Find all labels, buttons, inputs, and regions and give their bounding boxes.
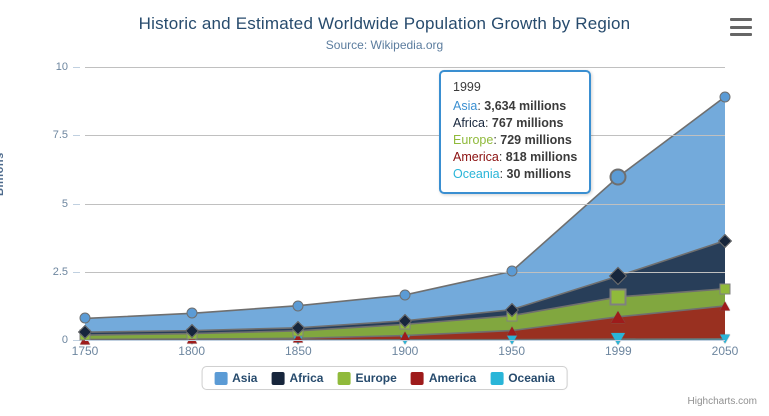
legend-label: Europe: [355, 371, 396, 385]
tooltip-series-name: Africa: [453, 116, 485, 130]
point-marker-america[interactable]: [507, 326, 517, 335]
y-axis-tick-label: 5: [62, 198, 68, 210]
gridline: [85, 272, 725, 273]
legend-swatch: [337, 372, 350, 385]
y-axis-tick: [73, 272, 80, 273]
x-axis-tick-label: 1800: [178, 344, 205, 358]
tooltip-row: Africa: 767 millions: [453, 115, 577, 132]
tooltip-separator: :: [485, 116, 492, 130]
y-axis-tick-label: 0: [62, 334, 68, 346]
tooltip-row: Europe: 729 millions: [453, 132, 577, 149]
legend-item-asia[interactable]: Asia: [214, 371, 257, 385]
x-axis-tick-label: 2050: [712, 344, 739, 358]
x-axis-line: [85, 340, 725, 341]
tooltip-row: Asia: 3,634 millions: [453, 98, 577, 115]
x-axis-tick-label: 1750: [72, 344, 99, 358]
point-marker-oceania[interactable]: [720, 334, 730, 343]
point-marker-asia[interactable]: [506, 266, 517, 277]
y-axis-tick: [73, 67, 80, 68]
point-marker-asia[interactable]: [186, 308, 197, 319]
legend-label: Oceania: [508, 371, 555, 385]
hamburger-menu-icon[interactable]: [730, 18, 752, 36]
point-marker-europe[interactable]: [610, 288, 627, 305]
point-marker-asia[interactable]: [720, 91, 731, 102]
tooltip-header: 1999: [453, 79, 577, 98]
legend-item-america[interactable]: America: [411, 371, 476, 385]
x-axis-tick-label: 1950: [498, 344, 525, 358]
tooltip-series-name: Europe: [453, 133, 493, 147]
legend-swatch: [271, 372, 284, 385]
menu-line-3: [730, 33, 752, 36]
y-axis-labels: 02.557.510: [0, 67, 78, 340]
point-marker-europe[interactable]: [720, 283, 731, 294]
tooltip-separator: :: [499, 150, 506, 164]
tooltip-series-value: 729 millions: [500, 133, 572, 147]
y-axis-tick-label: 7.5: [53, 129, 68, 141]
tooltip-series-name: America: [453, 150, 499, 164]
tooltip-rows: Asia: 3,634 millionsAfrica: 767 millions…: [453, 98, 577, 183]
gridline: [85, 135, 725, 136]
legend-swatch: [490, 372, 503, 385]
tooltip-series-value: 767 millions: [492, 116, 564, 130]
point-marker-asia[interactable]: [293, 300, 304, 311]
x-axis-tick-label: 1999: [605, 344, 632, 358]
legend-label: America: [429, 371, 476, 385]
tooltip-series-value: 30 millions: [507, 167, 572, 181]
menu-line-1: [730, 18, 752, 21]
y-axis-tick: [73, 204, 80, 205]
chart-title: Historic and Estimated Worldwide Populat…: [0, 14, 769, 34]
legend-item-oceania[interactable]: Oceania: [490, 371, 555, 385]
point-marker-asia[interactable]: [610, 168, 627, 185]
chart-subtitle: Source: Wikipedia.org: [0, 38, 769, 52]
x-axis-tick-label: 1850: [285, 344, 312, 358]
point-marker-asia[interactable]: [400, 289, 411, 300]
tooltip-series-name: Oceania: [453, 167, 500, 181]
legend-swatch: [411, 372, 424, 385]
x-axis-labels: 1750180018501900195019992050: [85, 344, 725, 366]
tooltip-row: Oceania: 30 millions: [453, 166, 577, 183]
tooltip-series-value: 3,634 millions: [484, 99, 566, 113]
menu-line-2: [730, 26, 752, 29]
tooltip-separator: :: [500, 167, 507, 181]
legend-label: Asia: [232, 371, 257, 385]
chart-legend[interactable]: AsiaAfricaEuropeAmericaOceania: [201, 366, 568, 390]
highcharts-area-chart: Historic and Estimated Worldwide Populat…: [0, 0, 769, 416]
tooltip-row: America: 818 millions: [453, 149, 577, 166]
tooltip-series-value: 818 millions: [506, 150, 578, 164]
x-axis-tick-label: 1900: [392, 344, 419, 358]
point-marker-america[interactable]: [611, 311, 625, 323]
legend-item-europe[interactable]: Europe: [337, 371, 396, 385]
legend-item-africa[interactable]: Africa: [271, 371, 323, 385]
legend-label: Africa: [289, 371, 323, 385]
legend-swatch: [214, 372, 227, 385]
point-marker-america[interactable]: [400, 331, 410, 340]
tooltip-series-name: Asia: [453, 99, 477, 113]
point-marker-america[interactable]: [720, 301, 730, 310]
plot-area: [85, 67, 725, 340]
y-axis-tick-label: 10: [56, 61, 68, 73]
gridline: [85, 67, 725, 68]
gridline: [85, 204, 725, 205]
highcharts-credit[interactable]: Highcharts.com: [688, 396, 757, 407]
point-marker-asia[interactable]: [80, 313, 91, 324]
y-axis-tick-label: 2.5: [53, 266, 68, 278]
y-axis-tick: [73, 135, 80, 136]
tooltip: 1999 Asia: 3,634 millionsAfrica: 767 mil…: [439, 70, 591, 194]
